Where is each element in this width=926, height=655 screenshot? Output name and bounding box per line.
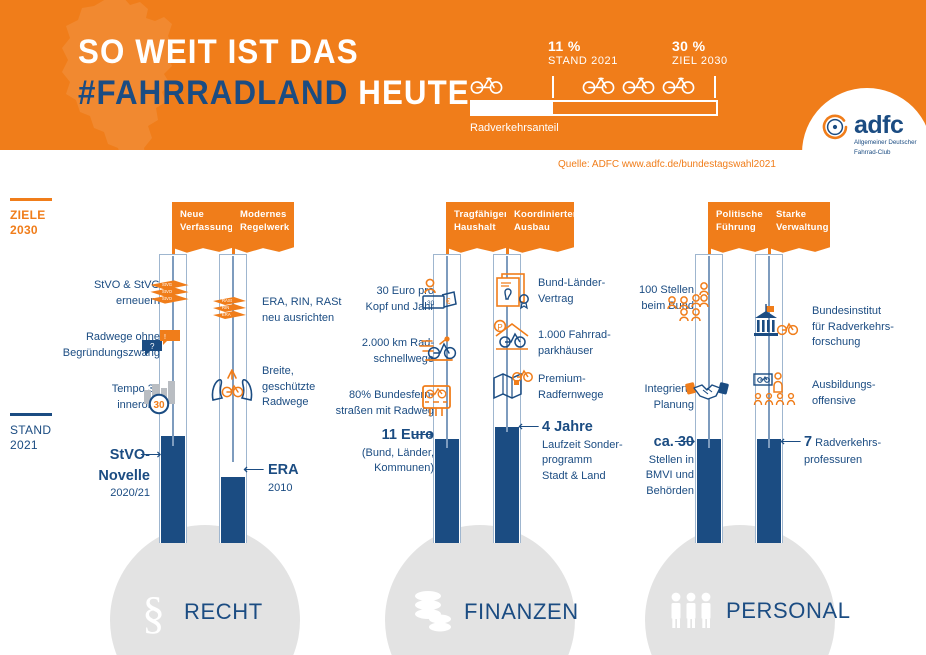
adfc-logo: adfc Allgemeiner Deutscher Fahrrad-Club <box>802 88 926 218</box>
anno-bundesinstitut: Bundesinstitut für Radverkehrs- forschun… <box>812 304 918 351</box>
flag-line1: Modernes <box>240 209 286 220</box>
flag-pole <box>232 202 235 254</box>
flag-modernes-regelwerk: Modernes Regelwerk <box>232 202 294 245</box>
svg-text:30: 30 <box>153 400 165 411</box>
svg-text:?: ? <box>150 342 155 351</box>
svg-text:RIN: RIN <box>222 305 229 310</box>
svg-text:StVG: StVG <box>162 282 172 287</box>
base-small: 2010 <box>268 482 292 494</box>
svg-text:!: ! <box>164 334 166 341</box>
flag-neue-verfassung: Neue Verfassung <box>172 202 234 245</box>
flag-tragfaehiger-haushalt: Tragfähiger Haushalt <box>446 202 508 245</box>
base-small: professuren <box>804 454 862 466</box>
anno-stvo-stvg: StVO & StVG erneuern <box>52 278 160 309</box>
svg-text:P: P <box>497 323 502 332</box>
map-bike-icon <box>492 368 532 402</box>
axis-label-now: STAND 2021 <box>10 413 52 453</box>
pointer-arrow-left: ⟵ <box>780 434 802 449</box>
adfc-wordmark: adfc <box>854 114 917 137</box>
section-label-finanzen: FINANZEN <box>412 588 579 636</box>
pointer-arrow-right: ⟶ <box>140 447 162 462</box>
header-banner: SO WEIT IST DAS #FAHRRADLAND HEUTE 11 % … <box>0 0 926 150</box>
axis-now-line2: 2021 <box>10 438 52 453</box>
bike-parking-icon: P <box>492 320 532 354</box>
flag-starke-verwaltung: Starke Verwaltung <box>768 202 830 245</box>
axis-goal-line2: 2030 <box>10 223 52 238</box>
bike-roadsign-icon <box>420 383 456 419</box>
paragraph-icon: § <box>140 588 174 636</box>
anno-line2: neu ausrichten <box>262 312 334 324</box>
bicycle-icon <box>662 74 696 94</box>
anno-line1: Ausbildungs- <box>812 379 876 391</box>
anno-line3: Radwege <box>262 396 308 408</box>
axis-label-goal: ZIELE 2030 <box>10 198 52 238</box>
progress-bar-fill <box>472 102 553 114</box>
base-big-1: 7 <box>804 434 812 450</box>
bicycle-icon <box>622 74 656 94</box>
handshake-icon <box>686 378 728 404</box>
protected-bikelane-icon <box>210 368 254 404</box>
title-suffix: HEUTE <box>348 74 469 112</box>
svg-text:RASt: RASt <box>222 298 233 303</box>
anno-line1: Bund-Länder- <box>538 277 605 289</box>
speech-bubbles-icon: ? ! <box>140 328 182 358</box>
anno-line1: Premium- <box>538 373 586 385</box>
base-small-3: Behörden <box>646 485 694 497</box>
progress-bar-track <box>470 100 718 116</box>
law-books-icon: StVGStVOStVO <box>148 277 190 309</box>
flag-pole <box>446 202 449 254</box>
section-label-recht: § RECHT <box>140 588 263 636</box>
flag-line2: Ausbau <box>514 222 550 233</box>
flag-line1: Starke <box>776 209 806 220</box>
adfc-subtitle-line1: Allgemeiner Deutscher <box>854 139 917 147</box>
pointer-arrow-right: ⟶ <box>674 434 696 449</box>
anno-line2: für Radverkehrs- <box>812 321 894 333</box>
staff-group-icon <box>660 280 714 338</box>
bar-spine <box>768 256 770 448</box>
base-small: Stellen in <box>649 454 694 466</box>
modal-share-progress: 11 % STAND 2021 30 % ZIEL 2030 <box>476 38 746 100</box>
anno-line1: Breite, <box>262 365 294 377</box>
section-name-finanzen: FINANZEN <box>464 599 579 625</box>
flag-pole <box>506 202 509 254</box>
base-big-2: Novelle <box>62 466 150 487</box>
flag-line2: Haushalt <box>454 222 496 233</box>
anno-bundesfernstrassen: 80% Bundesfern- straßen mit Radweg <box>328 388 434 419</box>
base-big-suffix: Radverkehrs- <box>815 437 881 449</box>
base-small: (Bund, Länder, <box>362 447 434 459</box>
anno-line2: geschützte <box>262 381 315 393</box>
city-speed30-icon: 30 <box>142 376 182 414</box>
axis-rule-now <box>10 413 52 416</box>
adfc-wheel-icon <box>822 114 848 140</box>
title-hashtag: #FAHRRADLAND <box>78 74 348 112</box>
svg-text:StVO: StVO <box>162 296 173 301</box>
flag-line2: Verfassung <box>180 222 233 233</box>
progress-tick-goal <box>714 76 716 98</box>
progress-tick-now <box>552 76 554 98</box>
base-small-2: programm <box>542 454 592 466</box>
flag-koordinierter-ausbau: Koordinierter Ausbau <box>506 202 574 245</box>
flag-pole <box>172 202 175 254</box>
regulation-books-icon: RAStRINERA <box>208 293 250 325</box>
infographic-root: SO WEIT IST DAS #FAHRRADLAND HEUTE 11 % … <box>0 0 926 655</box>
anno-line2: Radfernwege <box>538 389 603 401</box>
section-label-personal: PERSONAL <box>668 588 851 634</box>
anno-integrierte-planung: Integrierte Planung <box>612 382 694 413</box>
flag-line2: Führung <box>716 222 756 233</box>
anno-ausbildungsoffensive: Ausbildungs- offensive <box>812 378 912 409</box>
progress-goal-label: ZIEL 2030 <box>672 55 728 67</box>
flag-line1: Tragfähiger <box>454 209 508 220</box>
pointer-arrow-left: ⟵ <box>243 462 265 477</box>
anno-fahrradparkhaeuser: 1.000 Fahrrad- parkhäuser <box>538 328 648 359</box>
pointer-arrow-right: ⟶ <box>412 427 434 442</box>
pointer-arrow-left: ⟵ <box>518 419 540 434</box>
svg-text:€: € <box>446 297 451 306</box>
base-small: 2020/21 <box>110 487 150 499</box>
flag-line1: Koordinierter <box>514 209 577 220</box>
anno-line1: ERA, RIN, RASt <box>262 296 341 308</box>
bicycle-icon <box>582 74 616 94</box>
coins-icon <box>412 588 454 636</box>
progress-caption: Radverkehrsanteil <box>470 122 559 134</box>
axis-rule-goal <box>10 198 52 201</box>
svg-text:StVO: StVO <box>162 289 173 294</box>
goal-bicycles-group <box>582 74 696 96</box>
money-person-icon: 30 € <box>420 277 458 313</box>
flag-pole <box>768 202 771 254</box>
people-icon <box>668 588 716 634</box>
progress-now-value: 11 % <box>548 38 618 54</box>
axis-goal-line1: ZIELE <box>10 208 52 223</box>
anno-line2: offensive <box>812 395 856 407</box>
progress-goal-marker: 30 % ZIEL 2030 <box>672 38 728 67</box>
adfc-subtitle-line2: Fahrrad-Club <box>854 149 917 157</box>
institute-building-icon <box>752 300 798 342</box>
training-board-icon <box>752 372 798 408</box>
section-name-recht: RECHT <box>184 599 263 625</box>
base-big-1: StVO- <box>62 445 150 466</box>
flag-line2: Regelwerk <box>240 222 289 233</box>
axis-now-line1: STAND <box>10 423 52 438</box>
anno-line3: forschung <box>812 336 860 348</box>
base-note-7-professuren: 7 Radverkehrs- professuren <box>804 432 922 468</box>
flag-line1: Politische <box>716 209 763 220</box>
progress-goal-value: 30 % <box>672 38 728 54</box>
base-note-stvo: StVO- Novelle 2020/21 <box>62 445 150 502</box>
base-small-2: Kommunen) <box>374 462 434 474</box>
flag-line2: Verwaltung <box>776 222 829 233</box>
bicycle-icon <box>470 74 504 96</box>
anno-line2: Vertrag <box>538 293 573 305</box>
anno-line2: parkhäuser <box>538 345 593 357</box>
source-note: Quelle: ADFC www.adfc.de/bundestagswahl2… <box>558 159 776 170</box>
anno-line1: Bundesinstitut <box>812 305 881 317</box>
svg-text:30: 30 <box>427 300 435 307</box>
anno-line1: 1.000 Fahrrad- <box>538 329 611 341</box>
section-name-personal: PERSONAL <box>726 598 851 624</box>
bar-spine <box>232 256 234 462</box>
base-small-2: BMVI und <box>646 469 694 481</box>
flag-politische-fuehrung: Politische Führung <box>708 202 770 245</box>
title-line-1: SO WEIT IST DAS <box>78 32 470 73</box>
base-small-3: Stadt & Land <box>542 470 606 482</box>
progress-now-label: STAND 2021 <box>548 55 618 67</box>
contract-seal-icon <box>494 272 534 310</box>
flag-pole <box>708 202 711 254</box>
svg-text:ERA: ERA <box>222 312 231 317</box>
page-title: SO WEIT IST DAS #FAHRRADLAND HEUTE <box>78 32 504 115</box>
fast-cyclist-icon <box>420 334 458 364</box>
svg-text:§: § <box>142 587 166 638</box>
flag-line1: Neue <box>180 209 204 220</box>
progress-now-marker: 11 % STAND 2021 <box>548 38 618 67</box>
